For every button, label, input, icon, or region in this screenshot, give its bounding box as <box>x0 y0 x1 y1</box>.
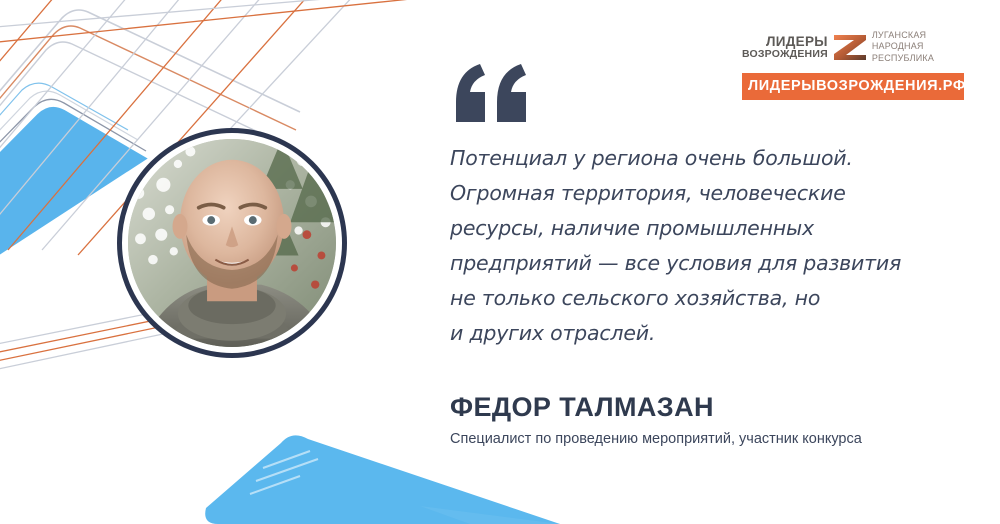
logo-brand-line1: ЛИДЕРЫ <box>766 35 828 49</box>
quote-line: не только сельского хозяйства, но <box>450 281 950 316</box>
quote-text: Потенциал у региона очень большой. Огром… <box>450 141 950 351</box>
quote-mark-icon <box>452 62 530 124</box>
decor-blue-sliver <box>420 506 560 524</box>
website-url-badge[interactable]: ЛИДЕРЫВОЗРОЖДЕНИЯ.РФ <box>742 73 964 100</box>
quote-card: ЛИДЕРЫ ВОЗРОЖДЕНИЯ ЛУГАНСКАЯ НАРОДНАЯ РЕ… <box>0 0 1000 524</box>
quote-line: и других отраслей. <box>450 316 950 351</box>
logo-region-line1: ЛУГАНСКАЯ <box>872 30 964 41</box>
quote-line: Огромная территория, человеческие <box>450 176 950 211</box>
portrait-photo <box>128 139 336 347</box>
decor-shallow-lines <box>0 0 430 46</box>
avatar <box>117 128 347 358</box>
logo-region-line2: НАРОДНАЯ РЕСПУБЛИКА <box>872 41 964 64</box>
quote-line: Потенциал у региона очень большой. <box>450 141 950 176</box>
quote-line: предприятий — все условия для развития <box>450 246 950 281</box>
z-symbol-icon <box>833 32 867 62</box>
brand-logo[interactable]: ЛИДЕРЫ ВОЗРОЖДЕНИЯ ЛУГАНСКАЯ НАРОДНАЯ РЕ… <box>742 30 964 100</box>
author-name: ФЕДОР ТАЛМАЗАН <box>450 392 714 423</box>
author-role: Специалист по проведению мероприятий, уч… <box>450 431 862 447</box>
logo-lockup: ЛИДЕРЫ ВОЗРОЖДЕНИЯ ЛУГАНСКАЯ НАРОДНАЯ РЕ… <box>742 30 964 64</box>
logo-region-name: ЛУГАНСКАЯ НАРОДНАЯ РЕСПУБЛИКА <box>872 30 964 64</box>
logo-wordmark: ЛИДЕРЫ ВОЗРОЖДЕНИЯ <box>742 35 828 59</box>
decor-blue-wedge <box>205 435 560 524</box>
quote-line: ресурсы, наличие промышленных <box>450 211 950 246</box>
logo-brand-line2: ВОЗРОЖДЕНИЯ <box>742 49 828 60</box>
